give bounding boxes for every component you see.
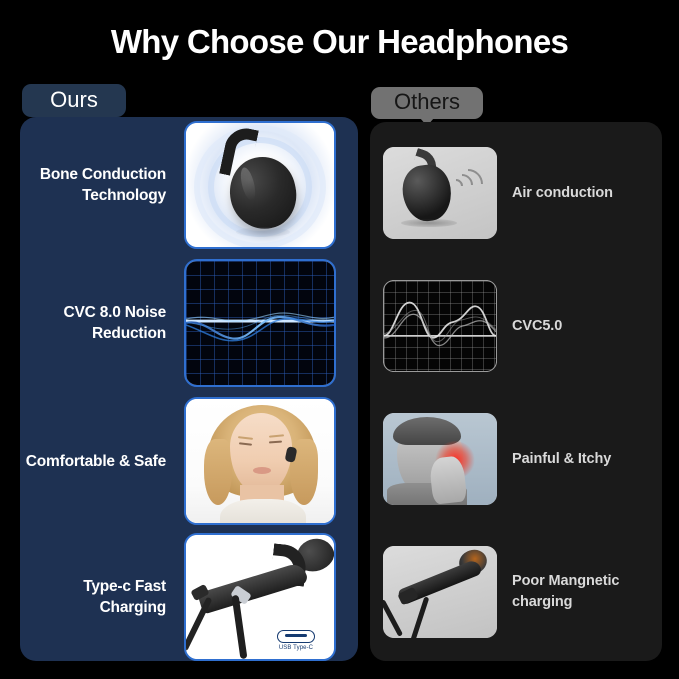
others-row-label: Air conduction	[497, 183, 619, 204]
usb-type-c-badge: USB Type-C	[266, 630, 326, 651]
others-panel: Air conduction CVC5.0	[370, 122, 662, 661]
man-with-ear-pain-photo	[383, 413, 497, 505]
woman-wearing-headphone-photo	[184, 397, 336, 525]
ours-row-bone-conduction: Bone Conduction Technology	[20, 117, 358, 253]
ours-panel: Bone Conduction Technology CVC 8.0 Noise…	[20, 117, 358, 661]
others-badge-label: Others	[394, 91, 460, 113]
type-c-charging-cable-image: USB Type-C	[184, 533, 336, 661]
blue-noise-waveform-grid-image	[184, 259, 336, 387]
comparison-infographic: Why Choose Our Headphones Ours Others Bo…	[0, 0, 679, 679]
others-row-air-conduction: Air conduction	[370, 126, 662, 260]
ours-row-label: Bone Conduction Technology	[20, 164, 186, 206]
ours-row-label: CVC 8.0 Noise Reduction	[20, 302, 186, 344]
others-row-label: Poor Mangnetic charging	[497, 571, 662, 613]
gray-headphone-soundwaves-image	[383, 147, 497, 239]
others-row-magnetic-charging: Poor Mangnetic charging	[370, 525, 662, 659]
ours-row-typec: Type-c Fast Charging USB Type-C	[20, 529, 358, 665]
ours-row-label: Comfortable & Safe	[20, 451, 186, 472]
magnetic-charging-cable-image	[383, 546, 497, 638]
others-row-label: Painful & Itchy	[497, 449, 617, 470]
others-row-label: CVC5.0	[497, 316, 568, 337]
others-row-cvc5: CVC5.0	[370, 259, 662, 393]
usb-type-c-caption: USB Type-C	[266, 645, 326, 651]
bone-conduction-headphone-cup-image	[184, 121, 336, 249]
usb-c-port-icon	[277, 630, 315, 643]
page-title: Why Choose Our Headphones	[0, 22, 679, 62]
ours-badge-label: Ours	[50, 89, 98, 111]
ours-badge: Ours	[22, 84, 126, 117]
ours-row-comfortable: Comfortable & Safe	[20, 393, 358, 529]
others-badge: Others	[371, 87, 483, 119]
others-row-painful: Painful & Itchy	[370, 392, 662, 526]
ours-row-label: Type-c Fast Charging	[20, 576, 186, 618]
gray-noise-waveform-grid-image	[383, 280, 497, 372]
ours-row-cvc8: CVC 8.0 Noise Reduction	[20, 255, 358, 391]
